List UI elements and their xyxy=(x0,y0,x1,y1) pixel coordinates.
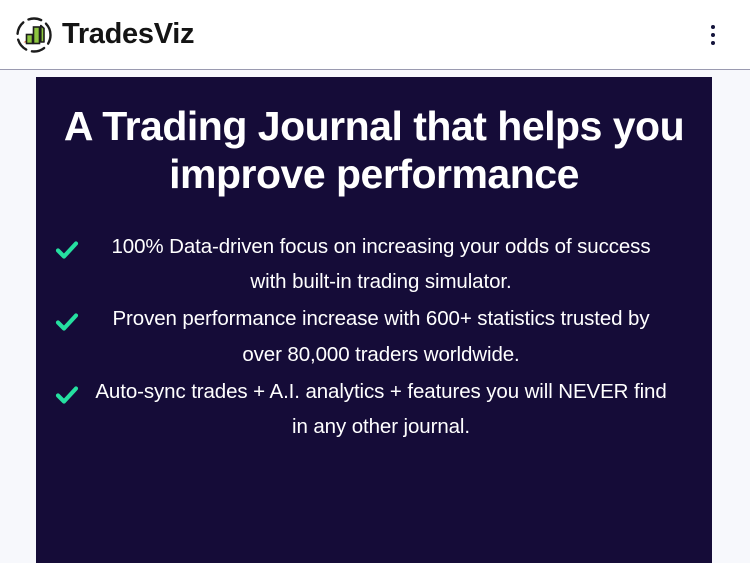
hero-panel: A Trading Journal that helps you improve… xyxy=(36,77,712,563)
kebab-dot-2 xyxy=(711,33,715,37)
hero-bullet-list: 100% Data-driven focus on increasing you… xyxy=(52,229,696,445)
hero-heading-line-2: improve performance xyxy=(56,151,692,199)
brand-logo-link[interactable]: TradesViz xyxy=(14,15,194,55)
hero-heading-line-1: A Trading Journal that helps you xyxy=(56,103,692,151)
bullet-text: Auto-sync trades + A.I. analytics + feat… xyxy=(92,374,694,445)
app-header: TradesViz xyxy=(0,0,750,70)
kebab-dot-3 xyxy=(711,41,715,45)
kebab-dot-1 xyxy=(711,25,715,29)
hero-heading: A Trading Journal that helps you improve… xyxy=(52,103,696,199)
brand-name: TradesViz xyxy=(62,20,194,49)
check-icon xyxy=(54,382,80,410)
list-item: Auto-sync trades + A.I. analytics + feat… xyxy=(54,374,694,445)
check-icon xyxy=(54,309,80,337)
tradesviz-bar-chart-circle-icon xyxy=(14,15,54,55)
page-body: A Trading Journal that helps you improve… xyxy=(0,71,750,563)
kebab-menu-icon[interactable] xyxy=(698,15,728,55)
bullet-text: Proven performance increase with 600+ st… xyxy=(92,301,694,372)
list-item: Proven performance increase with 600+ st… xyxy=(54,301,694,372)
check-icon xyxy=(54,237,80,265)
bullet-text: 100% Data-driven focus on increasing you… xyxy=(92,229,694,300)
list-item: 100% Data-driven focus on increasing you… xyxy=(54,229,694,300)
